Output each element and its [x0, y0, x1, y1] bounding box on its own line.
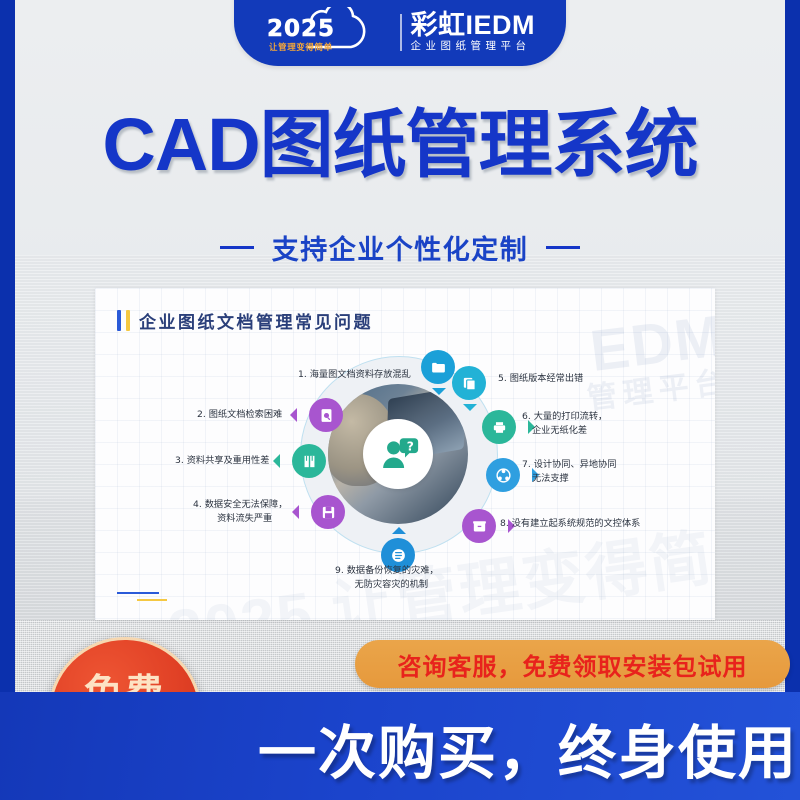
subtitle-row: 支持企业个性化定制 [0, 228, 800, 267]
footer-bar: 一次购买，终身使用 [0, 692, 800, 800]
label-2-text: 图纸文档检索困难 [209, 409, 283, 420]
share-nodes-icon [495, 467, 512, 484]
label-9-text: 数据备份恢复的灾难， [347, 565, 439, 576]
cta-pill-label: 咨询客服，免费领取安装包试用 [398, 647, 748, 682]
node-7[interactable] [486, 458, 520, 492]
label-2: 2. 图纸文档检索困难 [197, 408, 282, 422]
user-question-icon: ? [377, 433, 419, 475]
label-8-num: 8. [500, 518, 509, 529]
label-7: 7. 设计协同、异地协同 无法支撑 [522, 458, 616, 486]
document-search-icon [318, 407, 335, 424]
label-9-num: 9. [335, 565, 344, 576]
label-2-num: 2. [197, 409, 206, 420]
label-7-text: 设计协同、异地协同 [534, 459, 617, 470]
label-6-text: 大量的打印流转， [534, 411, 608, 422]
label-4: 4. 数据安全无法保障， 资料流失严重 [193, 498, 287, 526]
label-3: 3. 资料共享及重用性差 [175, 454, 269, 468]
label-4-text2: 资料流失严重 [193, 512, 287, 526]
label-4-num: 4. [193, 499, 202, 510]
label-8-text: 没有建立起系统规范的文控体系 [512, 518, 641, 529]
save-disk-icon [320, 504, 337, 521]
label-5: 5. 图纸版本经常出错 [498, 372, 583, 386]
page-title: CAD图纸管理系统 [0, 108, 800, 182]
backup-icon [390, 547, 407, 564]
feature-card: EDM 管理平台 2025 让管理变得简单 企业图纸文档管理常见问题 ? [95, 288, 715, 620]
year-text: 2025 [267, 16, 335, 42]
label-9-text2: 无防灾容灾的机制 [335, 578, 439, 592]
year-logo: 2025 让管理变得简单 [265, 8, 391, 56]
label-3-text: 资料共享及重用性差 [187, 455, 270, 466]
node-2[interactable] [309, 398, 343, 432]
label-1: 1. 海量图文档资料存放混乱 [298, 368, 411, 382]
node-3[interactable] [292, 444, 326, 478]
label-7-text2: 无法支撑 [522, 472, 616, 486]
poster-root: 2025 让管理变得简单 彩虹IEDM 企业图纸管理平台 CAD图纸管理系统 支… [0, 0, 800, 800]
label-4-text: 数据安全无法保障， [205, 499, 288, 510]
node-1[interactable] [421, 350, 455, 384]
copy-layers-icon [461, 375, 478, 392]
problems-diagram: ? [95, 288, 715, 620]
label-6-num: 6. [522, 411, 531, 422]
node-8[interactable] [462, 509, 496, 543]
dash-right [546, 246, 580, 249]
node-4[interactable] [311, 495, 345, 529]
brand-name: 彩虹IEDM [411, 12, 536, 39]
label-6-text2: 企业无纸化差 [522, 424, 607, 438]
node-6[interactable] [482, 410, 516, 444]
dash-left [220, 246, 254, 249]
label-7-num: 7. [522, 459, 531, 470]
label-9: 9. 数据备份恢复的灾难， 无防灾容灾的机制 [335, 564, 439, 592]
label-5-num: 5. [498, 373, 507, 384]
brand-subtitle: 企业图纸管理平台 [411, 41, 536, 52]
books-icon [301, 453, 318, 470]
label-8: 8. 没有建立起系统规范的文控体系 [500, 517, 640, 531]
diagram-center: ? [363, 419, 433, 489]
printer-icon [491, 419, 508, 436]
label-6: 6. 大量的打印流转， 企业无纸化差 [522, 410, 607, 438]
archive-box-icon [471, 518, 488, 535]
label-3-num: 3. [175, 455, 184, 466]
logo-divider [400, 14, 402, 51]
cta-pill-button[interactable]: 咨询客服，免费领取安装包试用 [355, 640, 790, 688]
year-tagline: 让管理变得简单 [269, 41, 333, 53]
svg-text:?: ? [407, 440, 414, 454]
label-1-text: 海量图文档资料存放混乱 [310, 369, 411, 380]
header-logo-badge: 2025 让管理变得简单 彩虹IEDM 企业图纸管理平台 [234, 0, 566, 66]
page-subtitle: 支持企业个性化定制 [272, 228, 529, 267]
label-1-num: 1. [298, 369, 307, 380]
node-5[interactable] [452, 366, 486, 400]
footer-slogan: 一次购买，终身使用 [258, 706, 798, 790]
label-5-text: 图纸版本经常出错 [510, 373, 584, 384]
folder-icon [430, 359, 447, 376]
